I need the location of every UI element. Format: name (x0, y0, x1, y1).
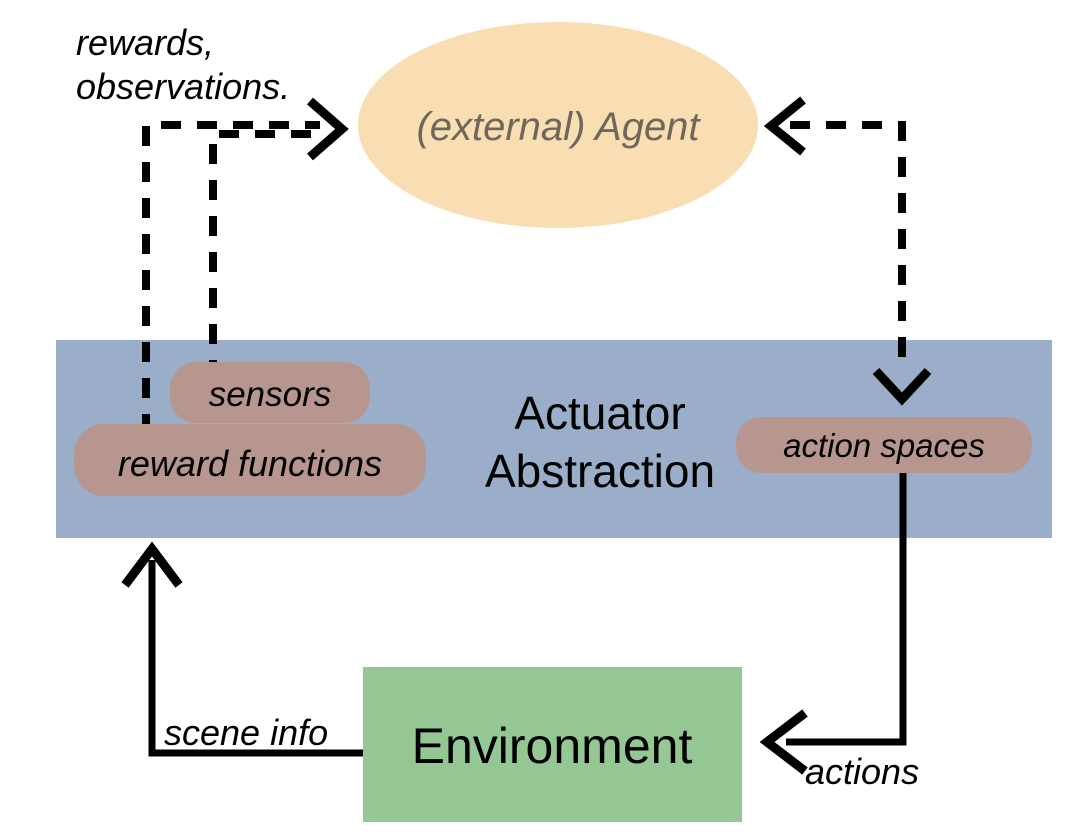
actuator-abstraction-label-line1: Actuator (514, 387, 685, 439)
pill-action-spaces-label: action spaces (783, 427, 985, 464)
pill-sensors-label: sensors (209, 375, 332, 414)
external-agent-label: (external) Agent (416, 105, 701, 149)
diagram-canvas: (external) Agent Actuator Abstraction se… (0, 0, 1091, 836)
actuator-abstraction-label-line2: Abstraction (485, 445, 715, 497)
scene-info-label: scene info (164, 712, 328, 753)
rewards-observations-label-line1: rewards, (76, 22, 214, 63)
edge-agent-to-action-spaces (790, 125, 902, 372)
rewards-observations-label-line2: observations. (76, 66, 290, 107)
environment-label: Environment (412, 718, 693, 774)
actuator-abstraction-diagram: (external) Agent Actuator Abstraction se… (0, 0, 1091, 836)
pill-reward-functions-label: reward functions (118, 443, 382, 484)
actions-label: actions (805, 751, 919, 792)
